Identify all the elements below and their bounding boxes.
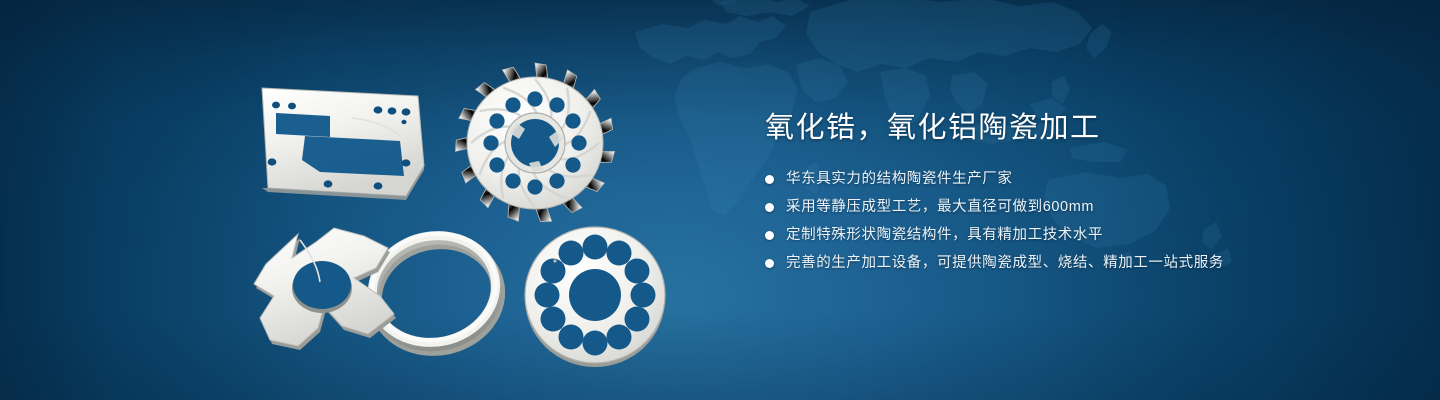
list-item: 定制特殊形状陶瓷结构件，具有精加工技术水平 xyxy=(765,224,1385,246)
bullet-dot-icon xyxy=(765,231,774,240)
ceramic-impeller-disc xyxy=(454,63,615,224)
ceramic-ring xyxy=(362,222,508,360)
list-item: 华东具实力的结构陶瓷件生产厂家 xyxy=(765,168,1385,190)
banner-headline: 氧化锆，氧化铝陶瓷加工 xyxy=(765,108,1385,148)
feature-list: 华东具实力的结构陶瓷件生产厂家 采用等静压成型工艺，最大直径可做到600mm 定… xyxy=(765,168,1385,274)
bullet-dot-icon xyxy=(765,259,774,268)
bullet-dot-icon xyxy=(765,175,774,184)
ceramic-mounting-plate xyxy=(262,88,424,200)
banner-copy: 氧化锆，氧化铝陶瓷加工 华东具实力的结构陶瓷件生产厂家 采用等静压成型工艺，最大… xyxy=(765,108,1385,290)
promo-banner: 氧化锆，氧化铝陶瓷加工 华东具实力的结构陶瓷件生产厂家 采用等静压成型工艺，最大… xyxy=(0,0,1440,400)
feature-text: 采用等静压成型工艺，最大直径可做到600mm xyxy=(786,196,1094,218)
bullet-dot-icon xyxy=(765,203,774,212)
list-item: 采用等静压成型工艺，最大直径可做到600mm xyxy=(765,196,1385,218)
product-photo-cluster xyxy=(0,0,720,400)
feature-text: 定制特殊形状陶瓷结构件，具有精加工技术水平 xyxy=(786,224,1103,246)
list-item: 完善的生产加工设备，可提供陶瓷成型、烧结、精加工一站式服务 xyxy=(765,252,1385,274)
feature-text: 完善的生产加工设备，可提供陶瓷成型、烧结、精加工一站式服务 xyxy=(786,252,1224,274)
ceramic-perforated-disc xyxy=(525,227,665,367)
feature-text: 华东具实力的结构陶瓷件生产厂家 xyxy=(786,168,1013,190)
